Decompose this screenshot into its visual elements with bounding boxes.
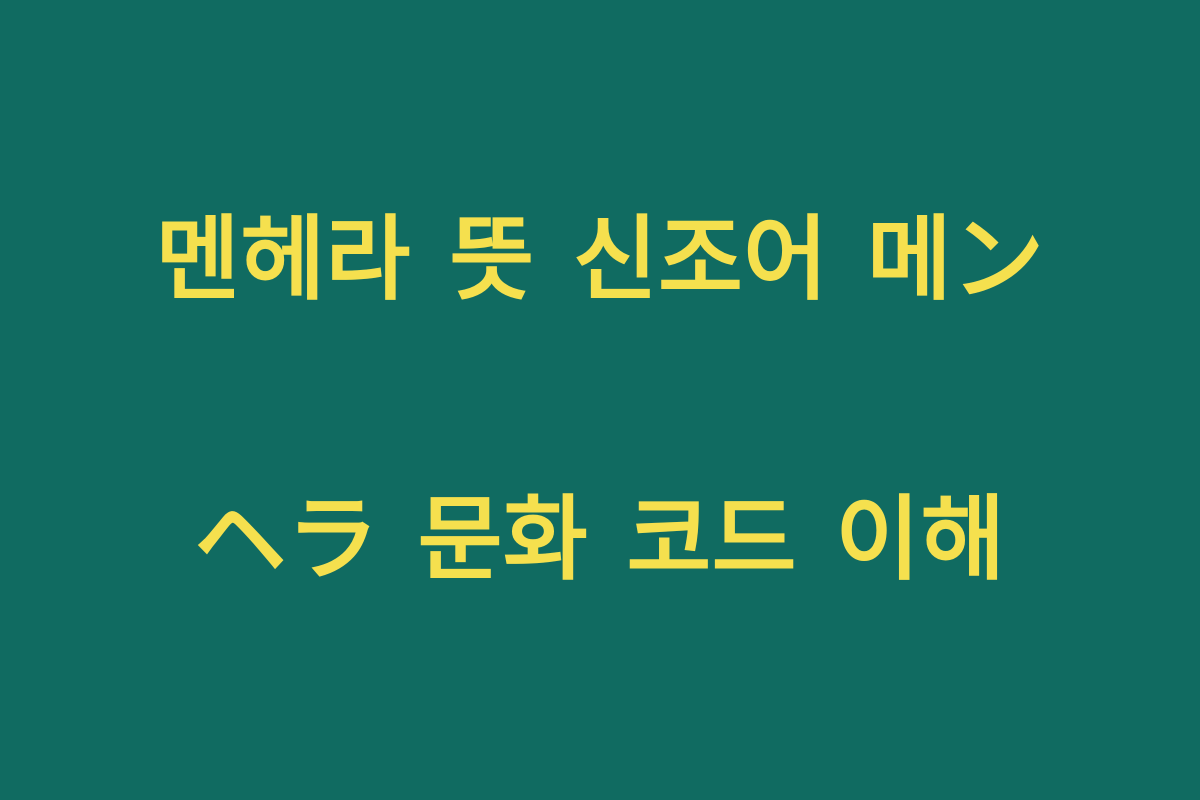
headline-text: 멘헤라 뜻 신조어 메ン ヘラ 문화 코드 이해 bbox=[0, 50, 1200, 750]
banner-canvas: 멘헤라 뜻 신조어 메ン ヘラ 문화 코드 이해 bbox=[0, 0, 1200, 800]
headline-line-2: ヘラ 문화 코드 이해 bbox=[60, 470, 1140, 610]
headline-line-1: 멘헤라 뜻 신조어 메ン bbox=[60, 190, 1140, 330]
